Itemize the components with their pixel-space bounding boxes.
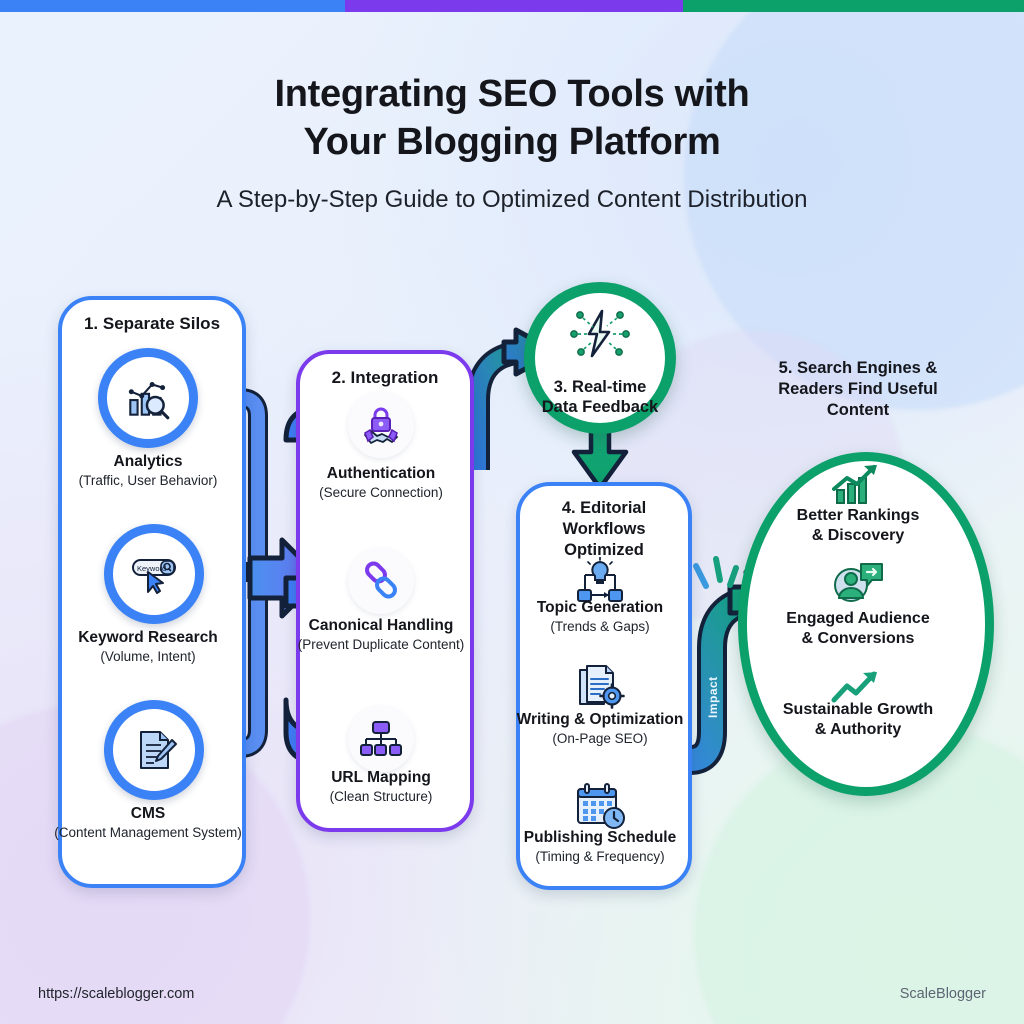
sitemap-hierarchy-icon [359,719,403,759]
outcome-2-line-1: Engaged Audience [786,610,929,627]
label-url-mapping: URL Mapping (Clean Structure) [288,768,474,805]
step3-title: 3. Real-time Data Feedback [523,377,677,417]
label-canonical-handling: Canonical Handling (Prevent Duplicate Co… [278,616,484,653]
canonical-handling-label: Canonical Handling [278,616,484,635]
step4-title-line-2: Workflows [562,520,645,538]
authentication-label: Authentication [288,464,474,483]
lightning-bolt-nodes-icon [569,307,631,363]
keyword-research-label: Keyword Research [48,628,248,647]
top-bar-segment-blue [0,0,345,12]
label-authentication: Authentication (Secure Connection) [288,464,474,501]
outcome-engaged-audience: Engaged Audience & Conversions [740,609,976,649]
lightbulb-flow-icon [571,557,629,603]
outcome-1-line-1: Better Rankings [797,507,920,524]
top-bar-segment-green [683,0,1024,12]
chain-link-icon [360,560,402,602]
label-analytics: Analytics (Traffic, User Behavior) [58,452,238,489]
step5-title-line-3: Content [827,401,889,419]
step3-title-line-1: 3. Real-time [554,378,647,396]
title-line-2: Your Blogging Platform [303,121,720,163]
icon-ring-cms[interactable] [104,700,204,800]
infographic-canvas: Integrating SEO Tools with Your Blogging… [0,0,1024,1024]
svg-text:Keyword: Keyword [137,564,166,573]
step2-title: 2. Integration [300,368,470,388]
outcome-sustainable-growth: Sustainable Growth & Authority [740,700,976,740]
url-mapping-label: URL Mapping [288,768,474,787]
document-pencil-icon [130,726,178,774]
topic-generation-label: Topic Generation [504,598,696,617]
growth-bar-arrow-icon [827,462,887,506]
outcome-3-line-2: & Authority [815,721,902,738]
icon-engaged-audience[interactable] [822,560,892,608]
panel-step3-realtime-feedback[interactable]: 3. Real-time Data Feedback [524,282,676,434]
footer-brand: ScaleBlogger [900,986,986,1002]
url-mapping-sub: (Clean Structure) [288,788,474,805]
impact-arrow-label: Impact [706,676,720,718]
analytics-label: Analytics [58,452,238,471]
calendar-clock-icon [572,781,628,831]
label-topic-generation: Topic Generation (Trends & Gaps) [504,598,696,635]
outcome-better-rankings: Better Rankings & Discovery [740,506,976,546]
icon-ring-url-mapping[interactable] [348,706,414,772]
icon-ring-authentication[interactable] [348,392,414,458]
writing-optimization-sub: (On-Page SEO) [496,730,704,747]
top-accent-bar [0,0,1024,12]
publishing-schedule-label: Publishing Schedule [498,828,702,847]
label-keyword-research: Keyword Research (Volume, Intent) [48,628,248,665]
step5-title: 5. Search Engines & Readers Find Useful … [736,358,980,421]
document-gear-icon [574,664,626,712]
authentication-sub: (Secure Connection) [288,484,474,501]
icon-writing-optimization[interactable] [572,662,628,714]
topic-generation-sub: (Trends & Gaps) [504,618,696,635]
writing-optimization-label: Writing & Optimization [496,710,704,729]
canonical-handling-sub: (Prevent Duplicate Content) [278,636,484,653]
label-cms: CMS (Content Management System) [50,804,246,841]
title-line-1: Integrating SEO Tools with [275,73,750,115]
keyword-search-cursor-icon: Keyword [128,552,180,596]
label-publishing-schedule: Publishing Schedule (Timing & Frequency) [498,828,702,865]
page-title: Integrating SEO Tools with Your Blogging… [0,70,1024,166]
step3-icon-wrap [535,307,665,368]
step3-title-line-2: Data Feedback [542,398,658,416]
top-bar-segment-purple [345,0,683,12]
icon-publishing-schedule[interactable] [570,780,630,832]
step4-title-line-1: 4. Editorial [562,499,646,517]
icon-better-rankings[interactable] [822,462,892,506]
keyword-research-sub: (Volume, Intent) [48,648,248,665]
cms-sub: (Content Management System) [50,824,246,841]
outcome-2-line-2: & Conversions [802,630,915,647]
outcome-1-line-2: & Discovery [812,527,905,544]
step4-title: 4. Editorial Workflows Optimized [520,498,688,561]
outcome-3-line-1: Sustainable Growth [783,701,933,718]
user-chat-icon [828,560,886,608]
icon-topic-generation[interactable] [570,556,630,604]
page-header: Integrating SEO Tools with Your Blogging… [0,70,1024,214]
page-subtitle: A Step-by-Step Guide to Optimized Conten… [0,186,1024,214]
footer-url[interactable]: https://scaleblogger.com [38,986,194,1002]
cms-label: CMS [50,804,246,823]
label-writing-optimization: Writing & Optimization (On-Page SEO) [496,710,704,747]
step5-title-line-2: Readers Find Useful [778,380,938,398]
analytics-chart-search-icon [123,373,173,423]
publishing-schedule-sub: (Timing & Frequency) [498,848,702,865]
step5-title-line-1: 5. Search Engines & [779,359,938,377]
icon-ring-analytics[interactable] [98,348,198,448]
analytics-sub: (Traffic, User Behavior) [58,472,238,489]
lock-handshake-icon [359,403,403,447]
step1-title: 1. Separate Silos [62,314,242,334]
icon-ring-keyword-research[interactable]: Keyword [104,524,204,624]
icon-ring-canonical-handling[interactable] [348,548,414,614]
